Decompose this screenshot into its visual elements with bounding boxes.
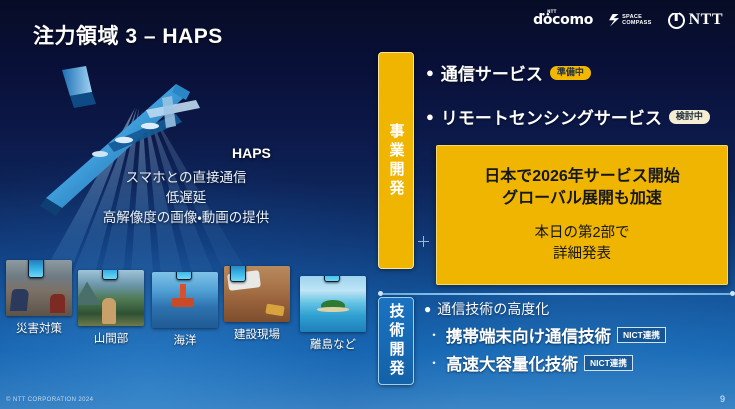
- partnership-badge: NICT連携: [584, 355, 633, 371]
- tech-item-label: 高速大容量化技術: [446, 351, 578, 375]
- business-bullet-remote-sensing-service: ● リモートセンシングサービス 検討中: [426, 104, 710, 129]
- docomo-logo-umlaut: ••: [541, 11, 550, 19]
- business-bullet-label: リモートセンシングサービス: [441, 104, 662, 129]
- haps-feature-list: スマホとの直接通信 低遅延 高解像度の画像・動画の提供: [0, 168, 372, 228]
- divider-bar: [383, 293, 730, 295]
- service-launch-highlight-box: 日本で2026年サービス開始 グローバル展開も加速 本日の第2部で 詳細発表: [436, 145, 728, 285]
- use-case-photo-mountain: [78, 270, 144, 326]
- divider-knob-left: [378, 291, 383, 296]
- tech-item-mobile-terminal: ・ 携帯端末向け通信技術 NICT連携: [428, 323, 666, 347]
- haps-feature-3: 高解像度の画像・動画の提供: [0, 208, 372, 228]
- use-case-remote-island: 離島など: [300, 276, 366, 352]
- docomo-logo: NTT •• docomo: [533, 12, 593, 28]
- page-title: 注力領域 3 – HAPS: [33, 20, 223, 50]
- bullet-dot-icon: ●: [424, 303, 431, 315]
- use-case-label: 建設現場: [224, 326, 290, 342]
- use-case-label: 海洋: [152, 332, 218, 348]
- space-compass-logo: SPACE COMPASS: [609, 14, 652, 27]
- bullet-dot-icon: ●: [426, 66, 434, 79]
- page-number: 9: [720, 394, 725, 404]
- highlight-normal-line-1: 本日の第2部で: [534, 223, 629, 244]
- business-development-panel: 事業開発 ● 通信サービス 準備中 ● リモートセンシングサービス 検討中 日本…: [378, 52, 735, 290]
- smartphone-icon: [176, 272, 192, 280]
- space-compass-line2: COMPASS: [622, 20, 652, 26]
- business-bullet-communication-service: ● 通信サービス 準備中: [426, 60, 591, 85]
- logo-bar: NTT •• docomo SPACE COMPASS NTT: [533, 8, 723, 32]
- technology-development-panel: 技術開発 ● 通信技術の高度化 ・ 携帯端末向け通信技術 NICT連携 ・ 高速…: [378, 297, 735, 385]
- highlight-normal-line-2: 詳細発表: [534, 244, 629, 265]
- status-badge: 検討中: [669, 110, 710, 124]
- use-case-thumbnail-row: 災害対策 山間部 海洋 建設現場 離島など: [0, 252, 380, 352]
- haps-feature-1: スマホとの直接通信: [0, 168, 372, 188]
- slide-crosshair-marker: [418, 236, 429, 247]
- smartphone-icon: [324, 276, 340, 282]
- status-badge: 準備中: [550, 66, 591, 80]
- slide-root: 注力領域 3 – HAPS NTT •• docomo SPACE COMPAS…: [0, 0, 735, 409]
- highlight-strong-line-2: グローバル展開も加速: [484, 188, 680, 210]
- copyright-notice: © NTT CORPORATION 2024: [6, 397, 93, 403]
- use-case-label: 災害対策: [6, 320, 72, 336]
- ntt-logo-text: NTT: [689, 11, 723, 29]
- tech-item-high-capacity: ・ 高速大容量化技術 NICT連携: [428, 351, 633, 375]
- use-case-label: 山間部: [78, 330, 144, 346]
- smartphone-icon: [230, 266, 246, 282]
- highlight-normal-text: 本日の第2部で 詳細発表: [534, 223, 629, 265]
- use-case-disaster-response: 災害対策: [6, 260, 72, 336]
- use-case-photo-construction: [224, 266, 290, 322]
- panel-divider: [378, 291, 735, 296]
- technology-development-tab[interactable]: 技術開発: [378, 297, 414, 385]
- tech-item-label: 携帯端末向け通信技術: [446, 323, 611, 347]
- smartphone-icon: [28, 260, 44, 278]
- use-case-ocean: 海洋: [152, 272, 218, 348]
- ntt-mark-icon: [668, 12, 685, 29]
- highlight-strong-text: 日本で2026年サービス開始 グローバル展開も加速: [484, 166, 680, 210]
- business-development-tab[interactable]: 事業開発: [378, 52, 414, 269]
- use-case-label: 離島など: [300, 336, 366, 352]
- space-compass-logo-text: SPACE COMPASS: [622, 14, 652, 26]
- use-case-mountain-area: 山間部: [78, 270, 144, 346]
- use-case-photo-disaster: [6, 260, 72, 316]
- partnership-badge: NICT連携: [617, 327, 666, 343]
- ntt-logo: NTT: [668, 11, 723, 29]
- tech-heading-label: 通信技術の高度化: [437, 299, 549, 319]
- use-case-photo-island: [300, 276, 366, 332]
- use-case-construction-site: 建設現場: [224, 266, 290, 342]
- haps-label: HAPS: [232, 145, 271, 161]
- bullet-dot-icon: ●: [426, 110, 434, 123]
- tech-heading-row: ● 通信技術の高度化: [424, 299, 549, 319]
- use-case-photo-ocean: [152, 272, 218, 328]
- business-bullet-label: 通信サービス: [441, 60, 543, 85]
- divider-knob-right: [730, 291, 735, 296]
- highlight-strong-line-1: 日本で2026年サービス開始: [484, 166, 680, 188]
- bullet-middot-icon: ・: [428, 357, 440, 369]
- haps-feature-2: 低遅延: [0, 188, 372, 208]
- bullet-middot-icon: ・: [428, 329, 440, 341]
- space-compass-mark-icon: [609, 14, 619, 27]
- smartphone-icon: [102, 270, 118, 280]
